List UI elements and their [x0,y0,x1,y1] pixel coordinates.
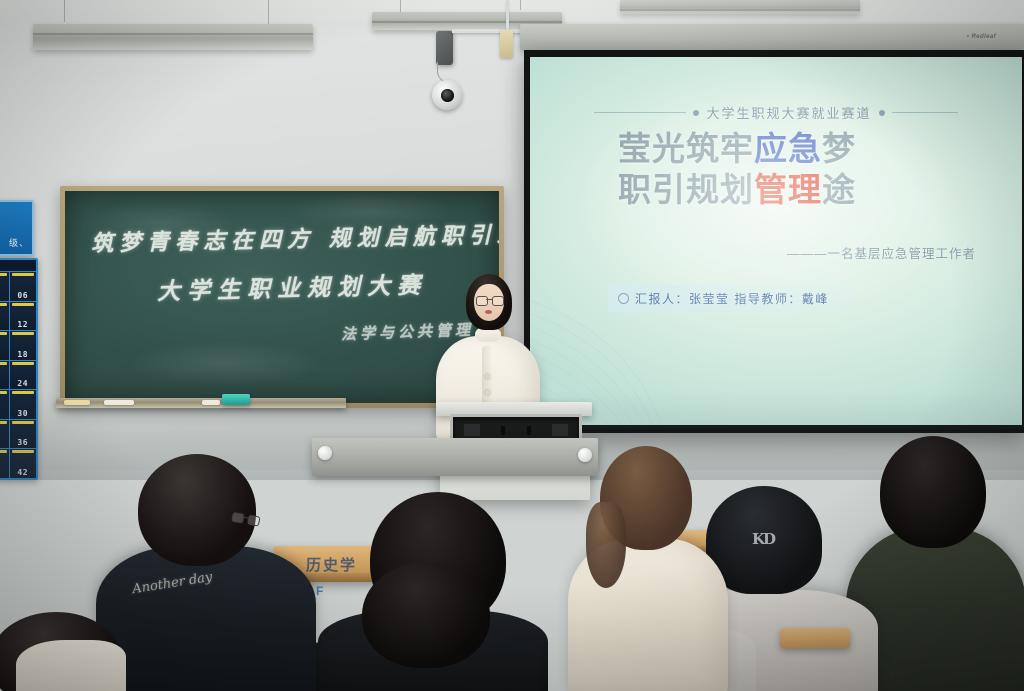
pocket-row: 17 18 [0,331,36,361]
camera-lens-icon [441,89,454,102]
student-sleeve [16,640,126,691]
presenter-button [485,374,490,379]
light-wire [64,0,65,22]
glasses-lens-left [476,296,488,306]
surveillance-camera-icon [432,80,462,110]
wall-notice-sign: 级、 [0,200,34,256]
pocket-slot[interactable]: 17 [0,331,10,360]
pocket-number: 05 [0,291,1,300]
screen-brand-label: Redleaf [967,33,996,40]
wall-sign-text: 级、 [9,236,29,249]
slide-kicker: 大学生职规大赛就业赛道 [530,103,1022,122]
title-1-accent: 应急 [754,130,822,167]
title-1-plain-b: 梦 [822,130,856,167]
pocket-number: 24 [17,379,28,388]
conduit-pipe-vertical [506,0,509,30]
pocket-number: 17 [0,350,1,359]
slide-subtitle: ———一名基层应急管理工作者 [787,243,976,262]
title-2-plain-b: 途 [822,171,856,208]
footer-bullet-icon [618,293,629,304]
slide-presenter-credits: 汇报人：张莹莹 指导教师：戴峰 [635,290,829,307]
ceiling-light-left [33,24,313,50]
title-1-plain-a: 莹光筑牢 [618,130,754,167]
title-2-accent: 管理 [754,171,822,208]
chair-back [780,628,850,648]
presenter-button [485,390,490,395]
slide-title: 莹光筑牢应急梦 职引规划管理途 [618,129,856,211]
pocket-slot[interactable]: 05 [0,272,10,301]
slide-title-line-1: 莹光筑牢应急梦 [618,129,856,170]
conduit-junction-box [500,30,513,58]
desk-rail-cap [318,446,332,460]
glasses-lens-right [492,296,504,306]
panel-slot[interactable] [464,424,480,436]
pocket-row: 11 12 [0,302,36,332]
pocket-slot[interactable]: 06 [10,272,37,301]
pocket-row: 23 24 [0,361,36,391]
light-wire [520,0,521,10]
teacher-desk-rail [312,438,598,476]
pocket-slot[interactable]: 11 [0,302,10,331]
camera-power-adapter [436,31,453,65]
slide-title-line-2: 职引规划管理途 [618,170,856,211]
projector-screen-housing: Redleaf [520,24,1024,50]
title-2-plain-a: 职引规划 [618,171,754,208]
student-head [138,454,256,566]
pocket-number: 12 [17,320,28,329]
student-cream-jacket [568,444,728,691]
kicker-rule-left [594,112,686,113]
pocket-number: 11 [0,320,1,329]
pocket-slot[interactable]: 24 [10,361,37,390]
pocket-slot[interactable]: 23 [0,361,10,390]
pocket-number: 18 [17,350,28,359]
student-head [880,436,986,548]
chalk-smudge [125,341,325,386]
pocket-number: 06 [17,291,28,300]
classroom-scene: Redleaf 大学生职规大赛就业赛道 [0,0,1024,691]
panel-slot[interactable] [552,424,568,436]
panel-knob[interactable] [527,426,531,435]
kicker-rule-right [892,112,958,113]
student-black-coat-left-front [300,562,540,691]
blackboard-line-2: 大学生职业规划大赛 [157,266,428,307]
slide-kicker-text: 大学生职规大赛就业赛道 [706,103,871,122]
slide-canvas: 大学生职规大赛就业赛道 莹光筑牢应急梦 职引规划管理途 ———一名基层应急管理工… [530,57,1022,425]
pocket-number: 23 [0,379,1,388]
presenter-mouth [485,310,492,314]
projector-screen: 大学生职规大赛就业赛道 莹光筑牢应急梦 职引规划管理途 ———一名基层应急管理工… [524,50,1024,433]
pocket-chart-header [0,260,36,272]
pocket-slot[interactable]: 18 [10,331,37,360]
beanie-logo: KD [752,530,774,548]
glasses-lens-right [247,515,261,527]
panel-knob[interactable] [501,426,505,435]
presenter-glasses-icon [476,296,502,304]
student-ponytail [586,502,626,588]
ceiling-light-right [620,0,860,14]
student-white-sleeve-bottom-left [16,640,126,691]
student-head [362,562,490,668]
pocket-slot[interactable]: 12 [10,302,37,331]
kicker-dot-right-icon [879,110,885,116]
kicker-dot-left-icon [693,110,699,116]
slide-footer: 汇报人：张莹莹 指导教师：戴峰 [608,285,855,312]
pocket-row: 05 06 [0,272,36,302]
light-wire [268,0,269,26]
